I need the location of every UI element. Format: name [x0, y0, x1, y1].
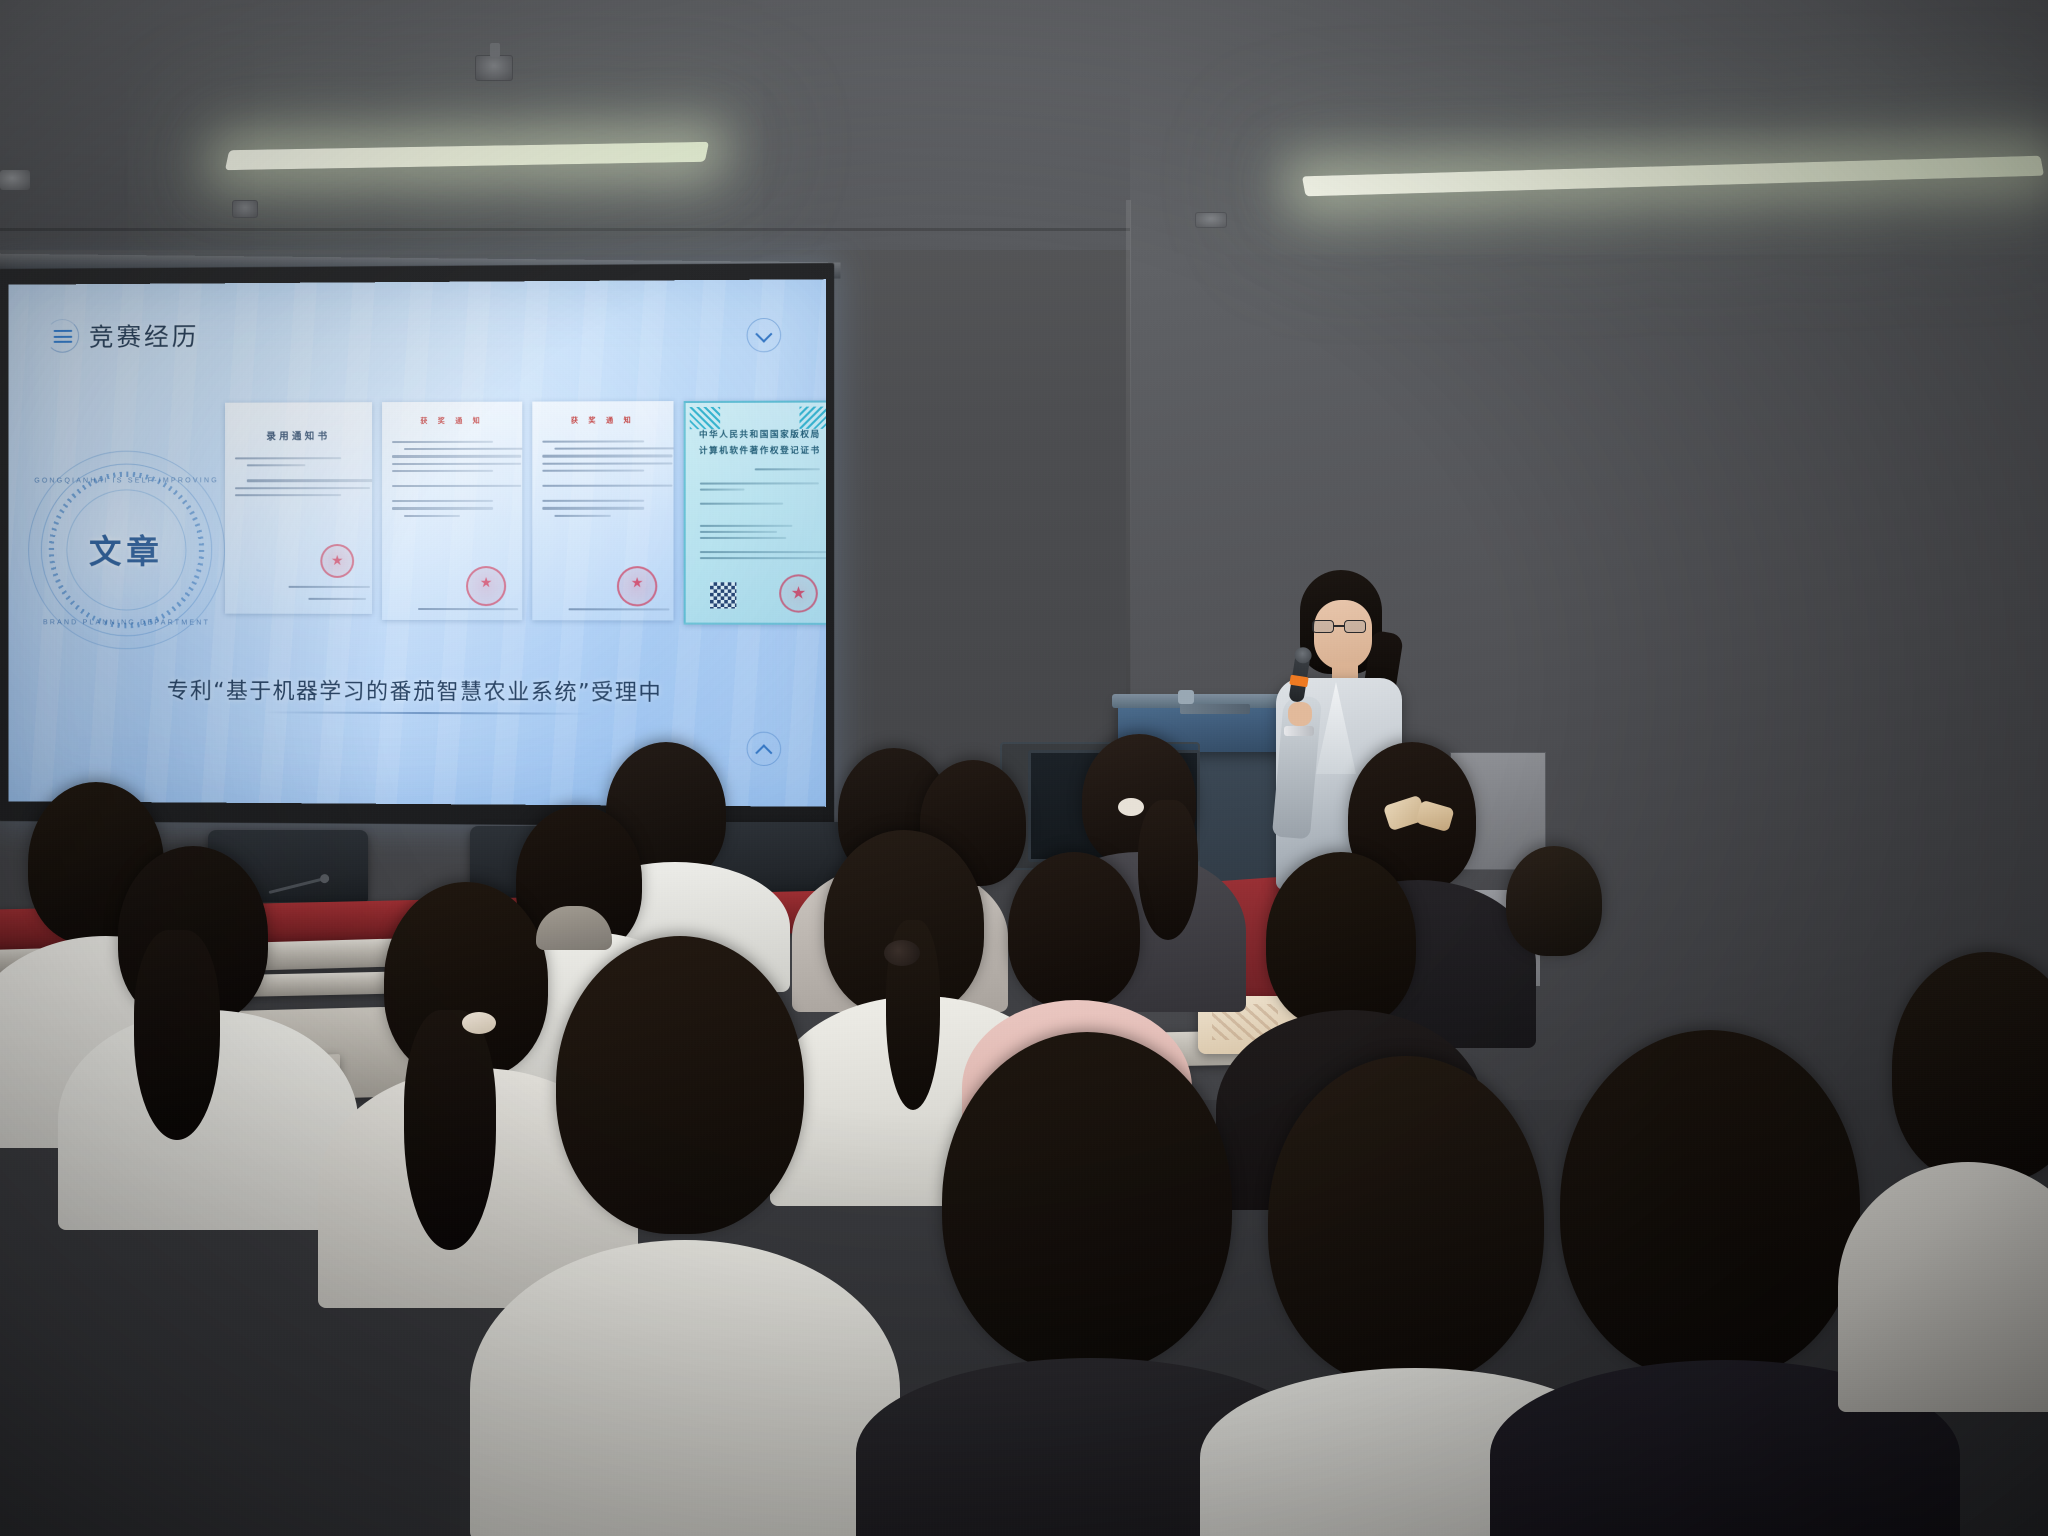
- hair-tie-icon: [1118, 798, 1144, 816]
- doc-text-line: [235, 457, 341, 459]
- certificate-gallery: 录用通知书 获 奖 通 知: [225, 400, 826, 624]
- doc-text-line: [542, 462, 672, 464]
- doc-text-line: [392, 441, 493, 443]
- doc-text-line: [392, 455, 521, 457]
- doc-text-line: [392, 507, 493, 509]
- audience-head: [1008, 852, 1140, 1008]
- hamburger-menu-icon: [46, 319, 79, 353]
- red-stamp-icon: [466, 566, 506, 606]
- doc-body: [382, 426, 522, 517]
- doc-title: 录用通知书: [225, 428, 372, 442]
- cert-text-line: [700, 482, 819, 484]
- doc-text-line: [554, 514, 610, 516]
- doc-text-line: [542, 500, 644, 502]
- document-award-notice-2[interactable]: 获 奖 通 知: [532, 401, 673, 620]
- doc-signature-line: [288, 586, 370, 588]
- scrunchie-icon: [884, 940, 920, 966]
- audience-head: [1266, 852, 1416, 1028]
- audience-head: [556, 936, 804, 1234]
- doc-text-line: [235, 487, 370, 489]
- qr-code-icon: [710, 582, 736, 608]
- doc-title: 获 奖 通 知: [532, 415, 673, 425]
- red-stamp-icon: [617, 566, 657, 606]
- podium-control-panel[interactable]: [1180, 704, 1250, 714]
- document-software-copyright-certificate[interactable]: 中华人民共和国国家版权局 计算机软件著作权登记证书: [684, 400, 826, 624]
- doc-footer-line: [569, 608, 670, 610]
- doc-text-line: [542, 455, 672, 457]
- presentation-slide[interactable]: 竞赛经历 GONGQIANHAI IS SELF-IMPROVING 文章 BR…: [9, 279, 826, 807]
- doc-text-line: [392, 500, 493, 502]
- ceiling-vent-icon: [232, 200, 258, 218]
- doc-body: [225, 442, 372, 496]
- podium-knob[interactable]: [1178, 690, 1194, 704]
- doc-text-line: [392, 462, 521, 464]
- doc-date-line: [308, 598, 366, 600]
- presenter-face: [1314, 600, 1372, 670]
- doc-text-line: [404, 448, 522, 451]
- seal-center-text: 文章: [29, 525, 224, 573]
- slide-title: 竞赛经历: [89, 317, 199, 353]
- wristwatch-icon: [1284, 726, 1314, 736]
- doc-title: 获 奖 通 知: [382, 416, 522, 426]
- national-red-seal-icon: [779, 574, 818, 612]
- doc-text-line: [235, 494, 341, 496]
- seal-arc-top-text: GONGQIANHAI IS SELF-IMPROVING: [29, 475, 224, 484]
- doc-body: [532, 425, 673, 516]
- cert-text-line: [700, 557, 826, 559]
- audience-ponytail: [134, 930, 220, 1140]
- certificate-corner-ornament: [690, 407, 720, 429]
- slide-caption: 专利“基于机器学习的番茄智慧农业系统”受理中: [9, 673, 826, 708]
- chevron-up-icon[interactable]: [747, 732, 782, 766]
- doc-text-line: [542, 440, 644, 442]
- cert-text-line: [700, 530, 777, 532]
- screenshot-root: 竞赛经历 GONGQIANHAI IS SELF-IMPROVING 文章 BR…: [0, 0, 2048, 1536]
- cert-text-line: [700, 524, 792, 526]
- doc-text-line: [247, 479, 372, 481]
- document-award-notice-1[interactable]: 获 奖 通 知: [382, 402, 522, 621]
- ceiling-speaker-icon: [1195, 212, 1227, 228]
- red-stamp-icon: [320, 544, 354, 578]
- scrunchie-icon: [462, 1012, 496, 1034]
- certificate-corner-ornament: [800, 407, 827, 429]
- chevron-down-icon[interactable]: [747, 318, 782, 352]
- doc-text-line: [542, 507, 644, 509]
- slide-header: 竞赛经历: [46, 317, 200, 354]
- audience-head: [1506, 846, 1602, 956]
- doc-footer-line: [418, 608, 518, 610]
- audience-head: [1560, 1030, 1860, 1380]
- presenter-hand: [1288, 702, 1312, 726]
- certificate-title-line2: 计算机软件著作权登记证书: [686, 443, 826, 458]
- audience-head: [942, 1032, 1232, 1372]
- doc-text-line: [554, 448, 673, 451]
- document-acceptance-letter[interactable]: 录用通知书: [225, 402, 372, 614]
- audience-head: [1268, 1056, 1544, 1386]
- cert-text-line: [700, 551, 826, 553]
- eyeglasses-icon: [1312, 620, 1368, 634]
- smoke-detector-icon: [0, 170, 30, 190]
- audience-ponytail: [404, 1010, 496, 1250]
- audience-ponytail: [1138, 800, 1198, 940]
- audience-shoulders: [470, 1240, 900, 1536]
- projector-mount-icon: [475, 55, 513, 81]
- watermark-seal: GONGQIANHAI IS SELF-IMPROVING 文章 BRAND P…: [28, 450, 225, 649]
- caption-underline: [263, 711, 593, 714]
- doc-text-line: [404, 514, 460, 516]
- seal-arc-bottom-text: BRAND PLANNING DEPARTMENT: [29, 617, 224, 626]
